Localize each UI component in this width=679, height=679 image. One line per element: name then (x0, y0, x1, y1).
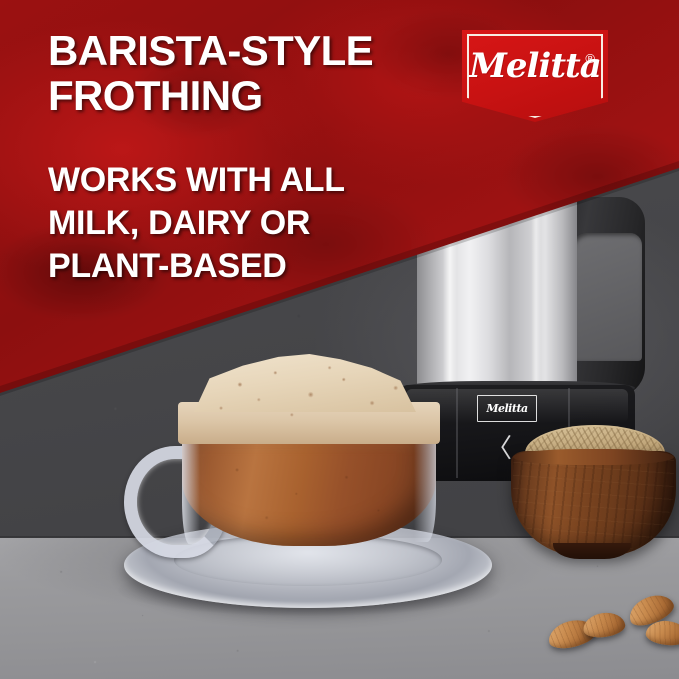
subheadline: WORKS WITH ALL MILK, DAIRY OR PLANT-BASE… (48, 159, 448, 288)
wooden-bowl-foot (553, 543, 631, 559)
wooden-bowl-with-oats (505, 425, 679, 560)
melitta-logo: Melitta ® (462, 30, 608, 122)
product-marketing-image: Melitta 〈 (0, 0, 679, 679)
jug-highlight-right (531, 201, 541, 393)
headline: BARISTA-STYLE FROTHING (48, 28, 448, 118)
headline-line-1: BARISTA-STYLE (48, 28, 448, 73)
wood-grain-texture (513, 453, 674, 554)
cappuccino-cup-group (118, 350, 498, 615)
cup-glass-highlight-right (414, 436, 436, 542)
registered-trademark-icon: ® (585, 52, 595, 65)
wooden-bowl-rim (513, 449, 674, 465)
cup-glass-highlight-left (182, 436, 200, 544)
subheadline-line-3: PLANT-BASED (48, 245, 448, 288)
headline-line-2: FROTHING (48, 73, 448, 118)
subheadline-line-1: WORKS WITH ALL (48, 159, 448, 202)
coffee-texture (196, 446, 424, 538)
subheadline-line-2: MILK, DAIRY OR (48, 202, 448, 245)
frother-handle-opening (570, 233, 642, 361)
cocoa-dusting (188, 356, 424, 440)
